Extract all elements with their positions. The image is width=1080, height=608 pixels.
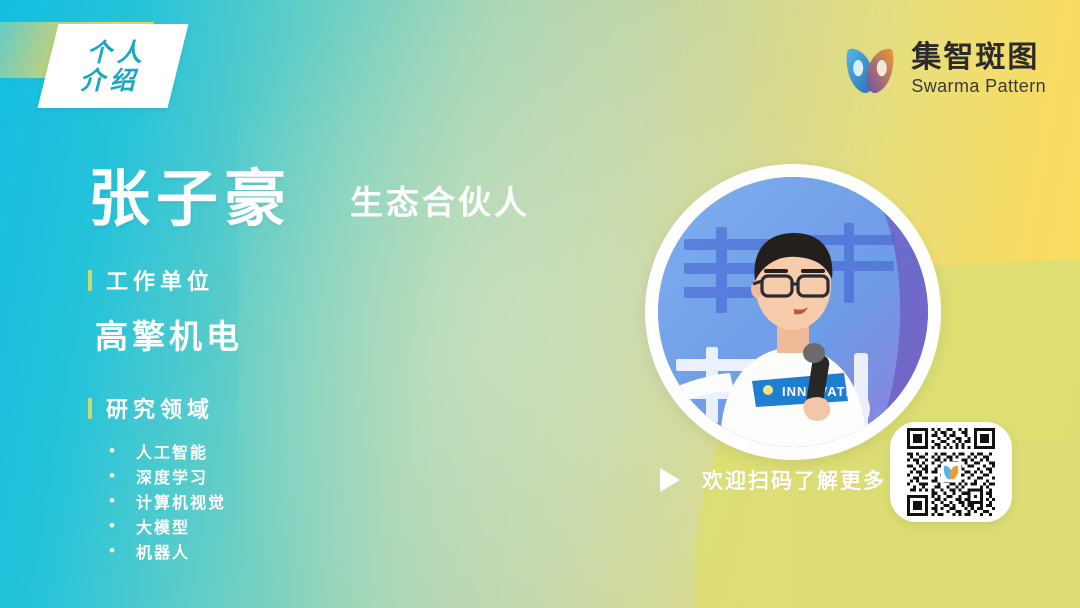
list-item: • 大模型 (108, 513, 648, 538)
brand-name-en: Swarma Pattern (911, 77, 1046, 95)
list-item: • 机器人 (108, 538, 648, 563)
bullet-icon: • (108, 492, 116, 509)
badge-line-2: 介绍 (74, 67, 146, 94)
bullet-icon: • (108, 517, 116, 534)
accent-bar-icon (88, 270, 92, 291)
bullet-icon: • (108, 542, 116, 559)
speaker-photo: INNOVATE (658, 177, 928, 447)
qr-code-icon[interactable] (907, 428, 995, 516)
research-section: 研究领域 • 人工智能 • 深度学习 • 计算机视觉 • 大模型 (88, 392, 648, 563)
slide-canvas: 个人 介绍 (0, 0, 1080, 608)
badge-text-group: 个人 介绍 (38, 24, 189, 108)
research-list: • 人工智能 • 深度学习 • 计算机视觉 • 大模型 • 机器人 (108, 438, 648, 563)
person-name: 张子豪 (88, 168, 292, 230)
affiliation-section: 工作单位 高擎机电 (88, 264, 648, 358)
qr-card[interactable] (890, 422, 1012, 522)
profile-info: 张子豪 生态合伙人 工作单位 高擎机电 研究领域 • 人工智能 • (88, 168, 648, 563)
affiliation-value: 高擎机电 (95, 310, 648, 358)
accent-bar-icon (88, 398, 92, 419)
brand-wordmark: 集智斑图 Swarma Pattern (911, 43, 1046, 95)
affiliation-label: 工作单位 (106, 264, 214, 296)
brand-logo: 集智斑图 Swarma Pattern (841, 40, 1046, 98)
research-item-label: 深度学习 (136, 464, 208, 488)
butterfly-logo-icon (841, 40, 899, 98)
research-item-label: 计算机视觉 (136, 489, 226, 513)
brand-name-cn: 集智斑图 (911, 43, 1046, 73)
person-role: 生态合伙人 (350, 176, 530, 230)
butterfly-logo-icon (941, 462, 961, 482)
name-row: 张子豪 生态合伙人 (88, 168, 648, 230)
list-item: • 计算机视觉 (108, 488, 648, 513)
badge-line-1: 个人 (81, 39, 153, 66)
bullet-icon: • (108, 467, 116, 484)
section-badge: 个人 介绍 (0, 0, 300, 140)
research-heading: 研究领域 (88, 392, 648, 424)
bullet-icon: • (108, 442, 116, 459)
portrait-frame: INNOVATE (645, 164, 941, 460)
research-label: 研究领域 (106, 392, 214, 424)
list-item: • 深度学习 (108, 463, 648, 488)
list-item: • 人工智能 (108, 438, 648, 463)
affiliation-heading: 工作单位 (88, 264, 648, 296)
scan-cta-label: 欢迎扫码了解更多 (702, 465, 886, 495)
research-item-label: 大模型 (136, 514, 190, 538)
research-item-label: 机器人 (136, 539, 190, 563)
research-item-label: 人工智能 (136, 439, 208, 463)
play-triangle-icon (660, 468, 680, 492)
scan-cta: 欢迎扫码了解更多 (660, 465, 886, 495)
